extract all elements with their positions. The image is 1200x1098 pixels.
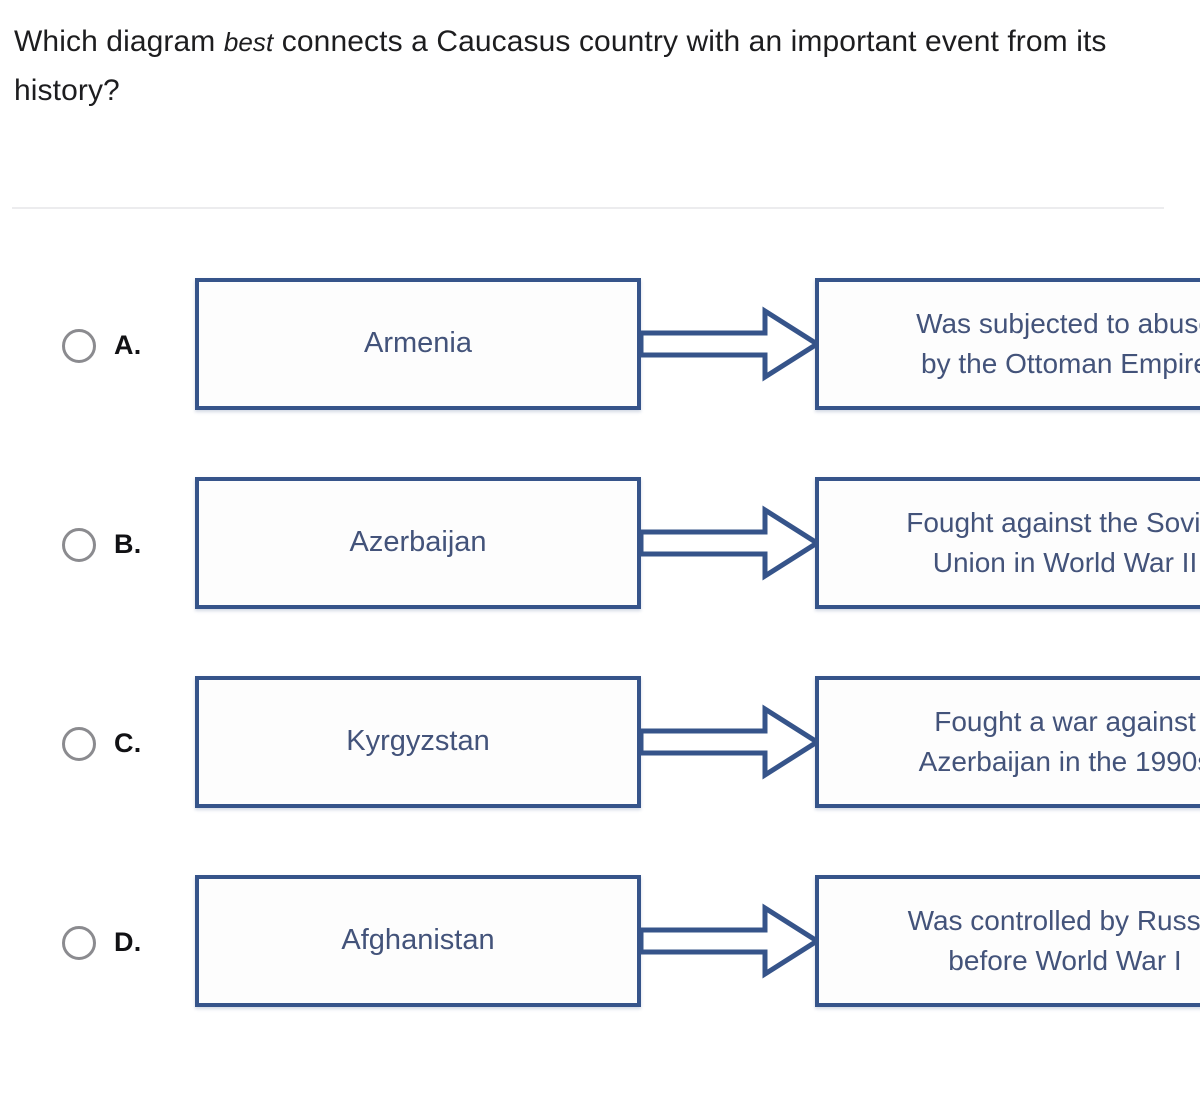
option-letter-b: B. <box>114 529 142 560</box>
option-row-b[interactable]: B. Azerbaijan Fought against the Soviet … <box>0 445 1200 644</box>
question-text: Which diagram best connects a Caucasus c… <box>14 18 1164 115</box>
event-line2-b: Union in World War II <box>933 547 1198 578</box>
diagram-b: Azerbaijan Fought against the Soviet Uni… <box>195 477 1200 609</box>
radio-group-c[interactable]: C. <box>62 727 142 761</box>
country-box-a: Armenia <box>195 278 641 410</box>
radio-button-b[interactable] <box>62 528 96 562</box>
country-box-b: Azerbaijan <box>195 477 641 609</box>
country-box-c: Kyrgyzstan <box>195 676 641 808</box>
diagram-c: Kyrgyzstan Fought a war against Azerbaij… <box>195 676 1200 808</box>
country-label-c: Kyrgyzstan <box>332 721 503 762</box>
event-line1-c: Fought a war against <box>934 706 1196 737</box>
option-row-a[interactable]: A. Armenia Was subjected to abuse by the… <box>0 246 1200 445</box>
option-row-c[interactable]: C. Kyrgyzstan Fought a war against Azerb… <box>0 644 1200 843</box>
country-label-b: Azerbaijan <box>335 522 500 563</box>
option-letter-c: C. <box>114 728 142 759</box>
event-box-a: Was subjected to abuse by the Ottoman Em… <box>815 278 1200 410</box>
event-label-c: Fought a war against Azerbaijan in the 1… <box>905 702 1200 782</box>
event-box-d: Was controlled by Russia before World Wa… <box>815 875 1200 1007</box>
right-block-arrow-icon-d <box>639 902 819 980</box>
option-letter-a: A. <box>114 330 142 361</box>
radio-button-a[interactable] <box>62 329 96 363</box>
event-line1-d: Was controlled by Russia <box>908 905 1200 936</box>
question-block: Which diagram best connects a Caucasus c… <box>14 18 1164 115</box>
event-box-c: Fought a war against Azerbaijan in the 1… <box>815 676 1200 808</box>
event-line2-a: by the Ottoman Empire <box>921 348 1200 379</box>
option-row-d[interactable]: D. Afghanistan Was controlled by Russia … <box>0 843 1200 1042</box>
radio-group-d[interactable]: D. <box>62 926 142 960</box>
event-label-d: Was controlled by Russia before World Wa… <box>894 901 1200 981</box>
event-box-b: Fought against the Soviet Union in World… <box>815 477 1200 609</box>
radio-group-a[interactable]: A. <box>62 329 142 363</box>
question-text-part1: Which diagram <box>14 25 224 58</box>
event-line2-c: Azerbaijan in the 1990s <box>919 746 1200 777</box>
radio-button-c[interactable] <box>62 727 96 761</box>
diagram-d: Afghanistan Was controlled by Russia bef… <box>195 875 1200 1007</box>
right-block-arrow-icon-c <box>639 703 819 781</box>
radio-group-b[interactable]: B. <box>62 528 142 562</box>
radio-button-d[interactable] <box>62 926 96 960</box>
country-box-d: Afghanistan <box>195 875 641 1007</box>
answer-options-list: A. Armenia Was subjected to abuse by the… <box>0 246 1200 1042</box>
option-letter-d: D. <box>114 927 142 958</box>
right-block-arrow-icon-b <box>639 504 819 582</box>
country-label-a: Armenia <box>350 323 486 364</box>
horizontal-divider <box>12 207 1164 209</box>
right-block-arrow-icon-a <box>639 305 819 383</box>
diagram-a: Armenia Was subjected to abuse by the Ot… <box>195 278 1200 410</box>
event-line1-b: Fought against the Soviet <box>906 507 1200 538</box>
country-label-d: Afghanistan <box>327 920 508 961</box>
question-text-emphasis: best <box>224 27 274 57</box>
event-label-b: Fought against the Soviet Union in World… <box>892 503 1200 583</box>
event-line1-a: Was subjected to abuse <box>916 308 1200 339</box>
event-line2-d: before World War I <box>948 945 1181 976</box>
event-label-a: Was subjected to abuse by the Ottoman Em… <box>902 304 1200 384</box>
